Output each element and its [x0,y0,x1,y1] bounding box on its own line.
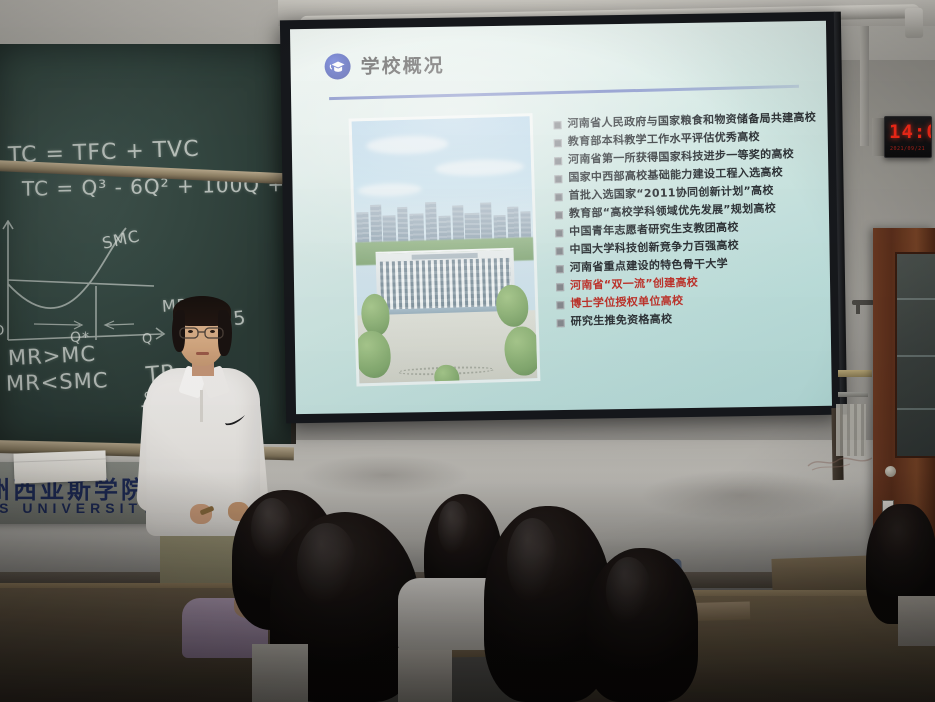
bullet-square-icon [554,157,562,165]
bullet-text: 中国青年志愿者研究生支教团高校 [569,220,739,240]
blackboard-label-origin: O [0,324,5,339]
student-shirt [252,644,308,702]
bullet-square-icon [555,193,563,201]
bullet-square-icon [553,121,561,129]
student-hair-gloss [507,518,558,604]
photo-tree [434,365,460,384]
eyeglasses-icon [179,326,225,339]
bullet-square-icon [555,247,563,255]
bullet-square-icon [554,175,562,183]
student-shirt [898,596,935,646]
banner-english-text: AS UNIVERSITY [0,500,156,516]
blackboard-condition-1: MR>MC [7,342,96,371]
blackboard-condition-2: MR<SMC [6,368,109,396]
student-hair-gloss [297,523,357,607]
photo-building-windows [380,258,512,309]
student-hair-gloss [438,501,469,555]
clock-time: 14:0 [889,121,932,143]
instructor-placket [200,390,203,422]
campus-main-building-photo [352,116,538,383]
bullet-square-icon [556,283,564,291]
projection-screen[interactable]: 学校概况 [280,12,841,424]
classroom-photo-scene: TC = TFC + TVC TC = Q³ - 6Q² + 100Q + TF… [0,0,935,702]
wall-pipe [838,370,872,377]
photo-main-building [375,248,516,320]
lecture-papers [14,450,107,483]
clock-bracket [872,118,884,156]
presentation-slide: 学校概况 [290,21,832,414]
door-knob[interactable] [885,466,896,477]
bullet-text: 中国大学科技创新竞争力百强高校 [569,238,739,258]
bullet-text: 研究生推免资格高校 [570,311,672,330]
bullet-square-icon [556,265,564,273]
instructor-mouth [196,352,209,355]
wall-hook-prong [856,304,860,314]
student-shirt [398,648,452,702]
list-item [586,548,698,702]
roller-end-cap [905,8,924,38]
bullet-square-icon [554,139,562,147]
slide-body: 河南省人民政府与国家粮食和物资储备局共建高校 教育部本科教学工作水平评估优秀高校… [290,21,832,414]
clock-date-sublabel: 2021/09/21 [890,146,925,152]
bullet-text: 河南省重点建设的特色骨干大学 [570,256,729,276]
wall-scribble [806,452,876,474]
wall-conduit [860,26,869,146]
swoosh-logo-icon [224,414,246,427]
student-hair-gloss [606,557,651,625]
bullet-text: 河南省“双一流”创建高校 [570,275,698,294]
wall-pipe-secondary [838,392,868,397]
bullet-square-icon [555,229,563,237]
slide-bullet-list: 河南省人民政府与国家粮食和物资储备局共建高校 教育部本科教学工作水平评估优秀高校… [553,111,824,331]
door-glass-panel [895,252,935,458]
digital-wall-clock: 14:0 2021/09/21 [884,116,932,158]
bullet-text: 博士学位授权单位高校 [570,293,683,312]
radiator [836,404,866,456]
bullet-square-icon [556,301,564,309]
bullet-square-icon [555,211,563,219]
bullet-square-icon [557,319,565,327]
